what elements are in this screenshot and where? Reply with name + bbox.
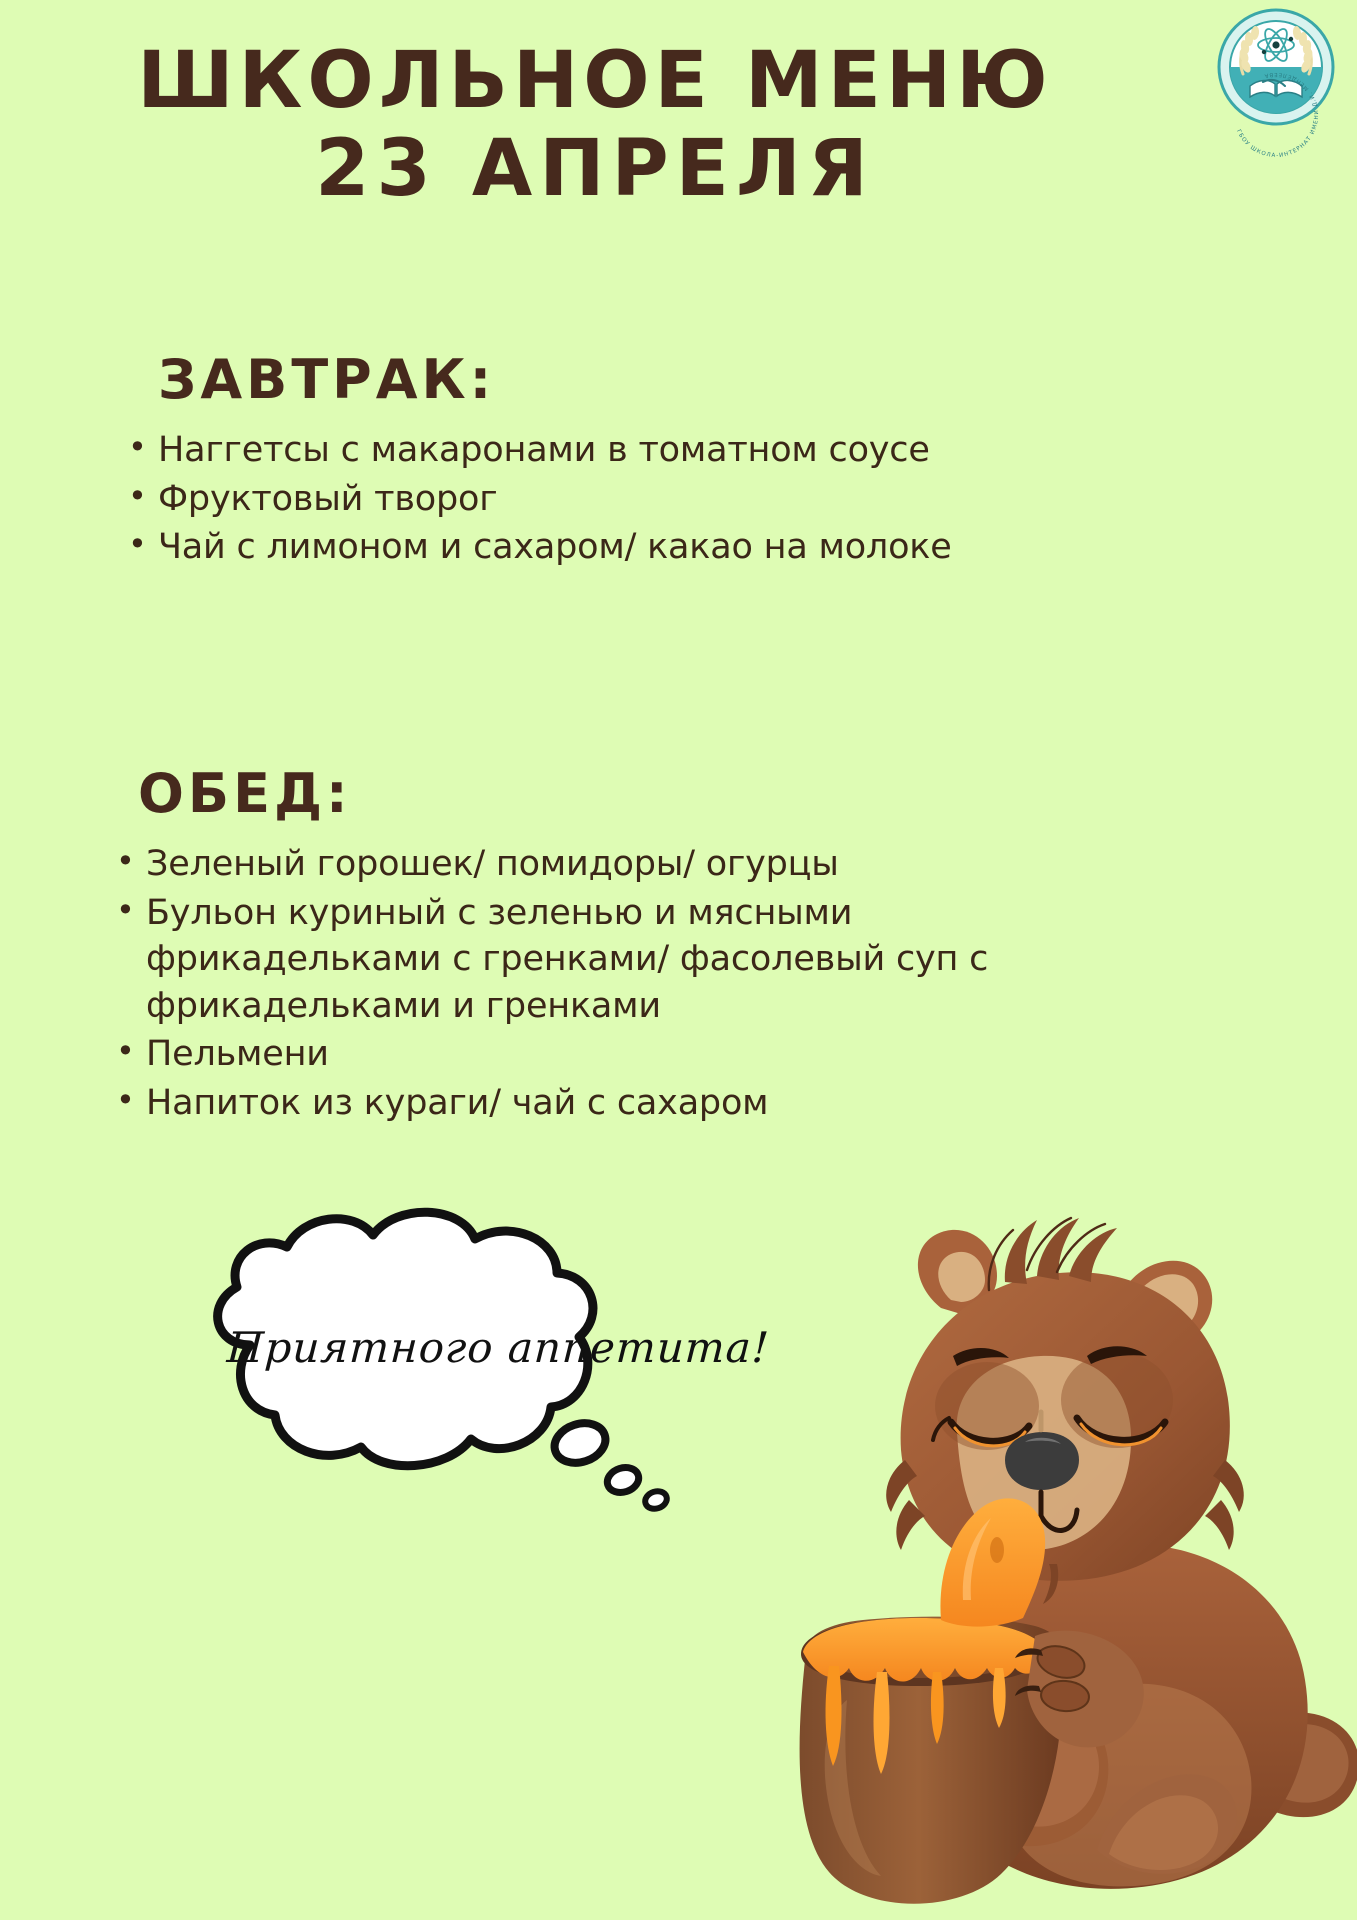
list-item: Бульон куриный с зеленью и мясными фрика… — [108, 890, 1038, 1030]
page-title: ШКОЛЬНОЕ МЕНЮ 23 АПРЕЛЯ — [0, 42, 1190, 209]
lunch-list: Зеленый горошек/ помидоры/ огурцы Бульон… — [108, 841, 1038, 1126]
bear-head — [886, 1218, 1244, 1604]
bubble-text: Приятного аппетита! — [226, 1323, 649, 1372]
section-lunch: ОБЕД: Зеленый горошек/ помидоры/ огурцы … — [108, 762, 1038, 1128]
bear-with-honey-pot-icon — [705, 1160, 1357, 1920]
list-item: Наггетсы с макаронами в томатном соусе — [120, 427, 960, 474]
section-breakfast: ЗАВТРАК: Наггетсы с макаронами в томатно… — [120, 348, 960, 573]
bear-illustration — [705, 1160, 1357, 1920]
breakfast-heading: ЗАВТРАК: — [158, 348, 960, 411]
school-logo: ГБОУ ШКОЛА-ИНТЕРНАТ ИМЕНИ Д.И. МЕНДЕЛЕЕВ… — [1217, 8, 1335, 126]
school-emblem-icon: ГБОУ ШКОЛА-ИНТЕРНАТ ИМЕНИ Д.И. МЕНДЕЛЕЕВ… — [1217, 8, 1335, 126]
title-line-1: ШКОЛЬНОЕ МЕНЮ — [0, 42, 1190, 122]
menu-poster: ГБОУ ШКОЛА-ИНТЕРНАТ ИМЕНИ Д.И. МЕНДЕЛЕЕВ… — [0, 0, 1357, 1920]
list-item: Пельмени — [108, 1031, 1038, 1078]
honey-pot — [800, 1498, 1065, 1903]
list-item: Фруктовый творог — [120, 476, 960, 523]
thought-bubble: Приятного аппетита! — [175, 1195, 695, 1525]
title-line-2: 23 АПРЕЛЯ — [0, 130, 1190, 210]
lunch-heading: ОБЕД: — [138, 762, 1038, 825]
list-item: Чай с лимоном и сахаром/ какао на молоке — [120, 524, 960, 571]
list-item: Зеленый горошек/ помидоры/ огурцы — [108, 841, 1038, 888]
list-item: Напиток из кураги/ чай с сахаром — [108, 1080, 1038, 1127]
breakfast-list: Наггетсы с макаронами в томатном соусе Ф… — [120, 427, 960, 571]
